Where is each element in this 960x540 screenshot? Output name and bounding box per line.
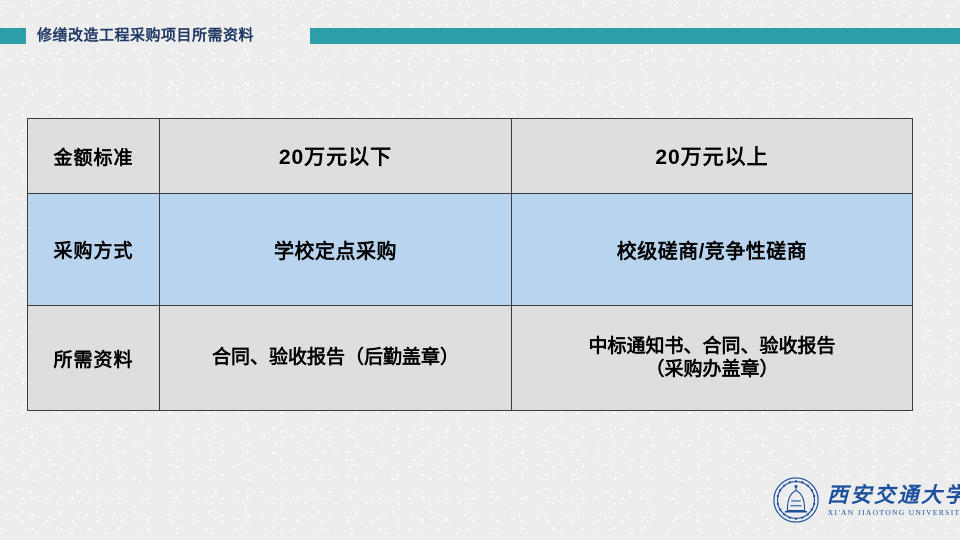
cell-method-above: 校级磋商/竞争性磋商	[512, 194, 913, 306]
cell-documents-above-line1: 中标通知书、合同、验收报告	[518, 335, 906, 358]
cell-amount-above: 20万元以上	[512, 119, 913, 194]
table-row: 采购方式 学校定点采购 校级磋商/竞争性磋商	[28, 194, 913, 306]
table-row: 金额标准 20万元以下 20万元以上	[28, 119, 913, 194]
university-name-en: XI'AN JIAOTONG UNIVERSITY	[827, 507, 960, 518]
page-title: 修缮改造工程采购项目所需资料	[37, 25, 254, 47]
cell-amount-below: 20万元以下	[160, 119, 512, 194]
table-row: 所需资料 合同、验收报告（后勤盖章） 中标通知书、合同、验收报告 （采购办盖章）	[28, 306, 913, 411]
university-name-cn: 西安交通大学	[827, 483, 960, 507]
row-label-amount-standard: 金额标准	[28, 119, 160, 194]
requirements-table-container: 金额标准 20万元以下 20万元以上 采购方式 学校定点采购 校级磋商/竞争性磋…	[27, 118, 912, 410]
cell-documents-below: 合同、验收报告（后勤盖章）	[160, 306, 512, 411]
requirements-table: 金额标准 20万元以下 20万元以上 采购方式 学校定点采购 校级磋商/竞争性磋…	[27, 118, 913, 411]
cell-method-below: 学校定点采购	[160, 194, 512, 306]
cell-documents-above: 中标通知书、合同、验收报告 （采购办盖章）	[512, 306, 913, 411]
header-accent-square	[0, 28, 26, 44]
row-label-procurement-method: 采购方式	[28, 194, 160, 306]
university-seal-icon	[772, 476, 820, 524]
university-logo-text: 西安交通大学 XI'AN JIAOTONG UNIVERSITY	[827, 483, 960, 518]
university-logo: 西安交通大学 XI'AN JIAOTONG UNIVERSITY	[772, 472, 940, 528]
slide-header: 修缮改造工程采购项目所需资料	[0, 0, 960, 70]
cell-documents-above-line2: （采购办盖章）	[518, 358, 906, 381]
header-accent-bar	[310, 28, 960, 44]
row-label-required-documents: 所需资料	[28, 306, 160, 411]
